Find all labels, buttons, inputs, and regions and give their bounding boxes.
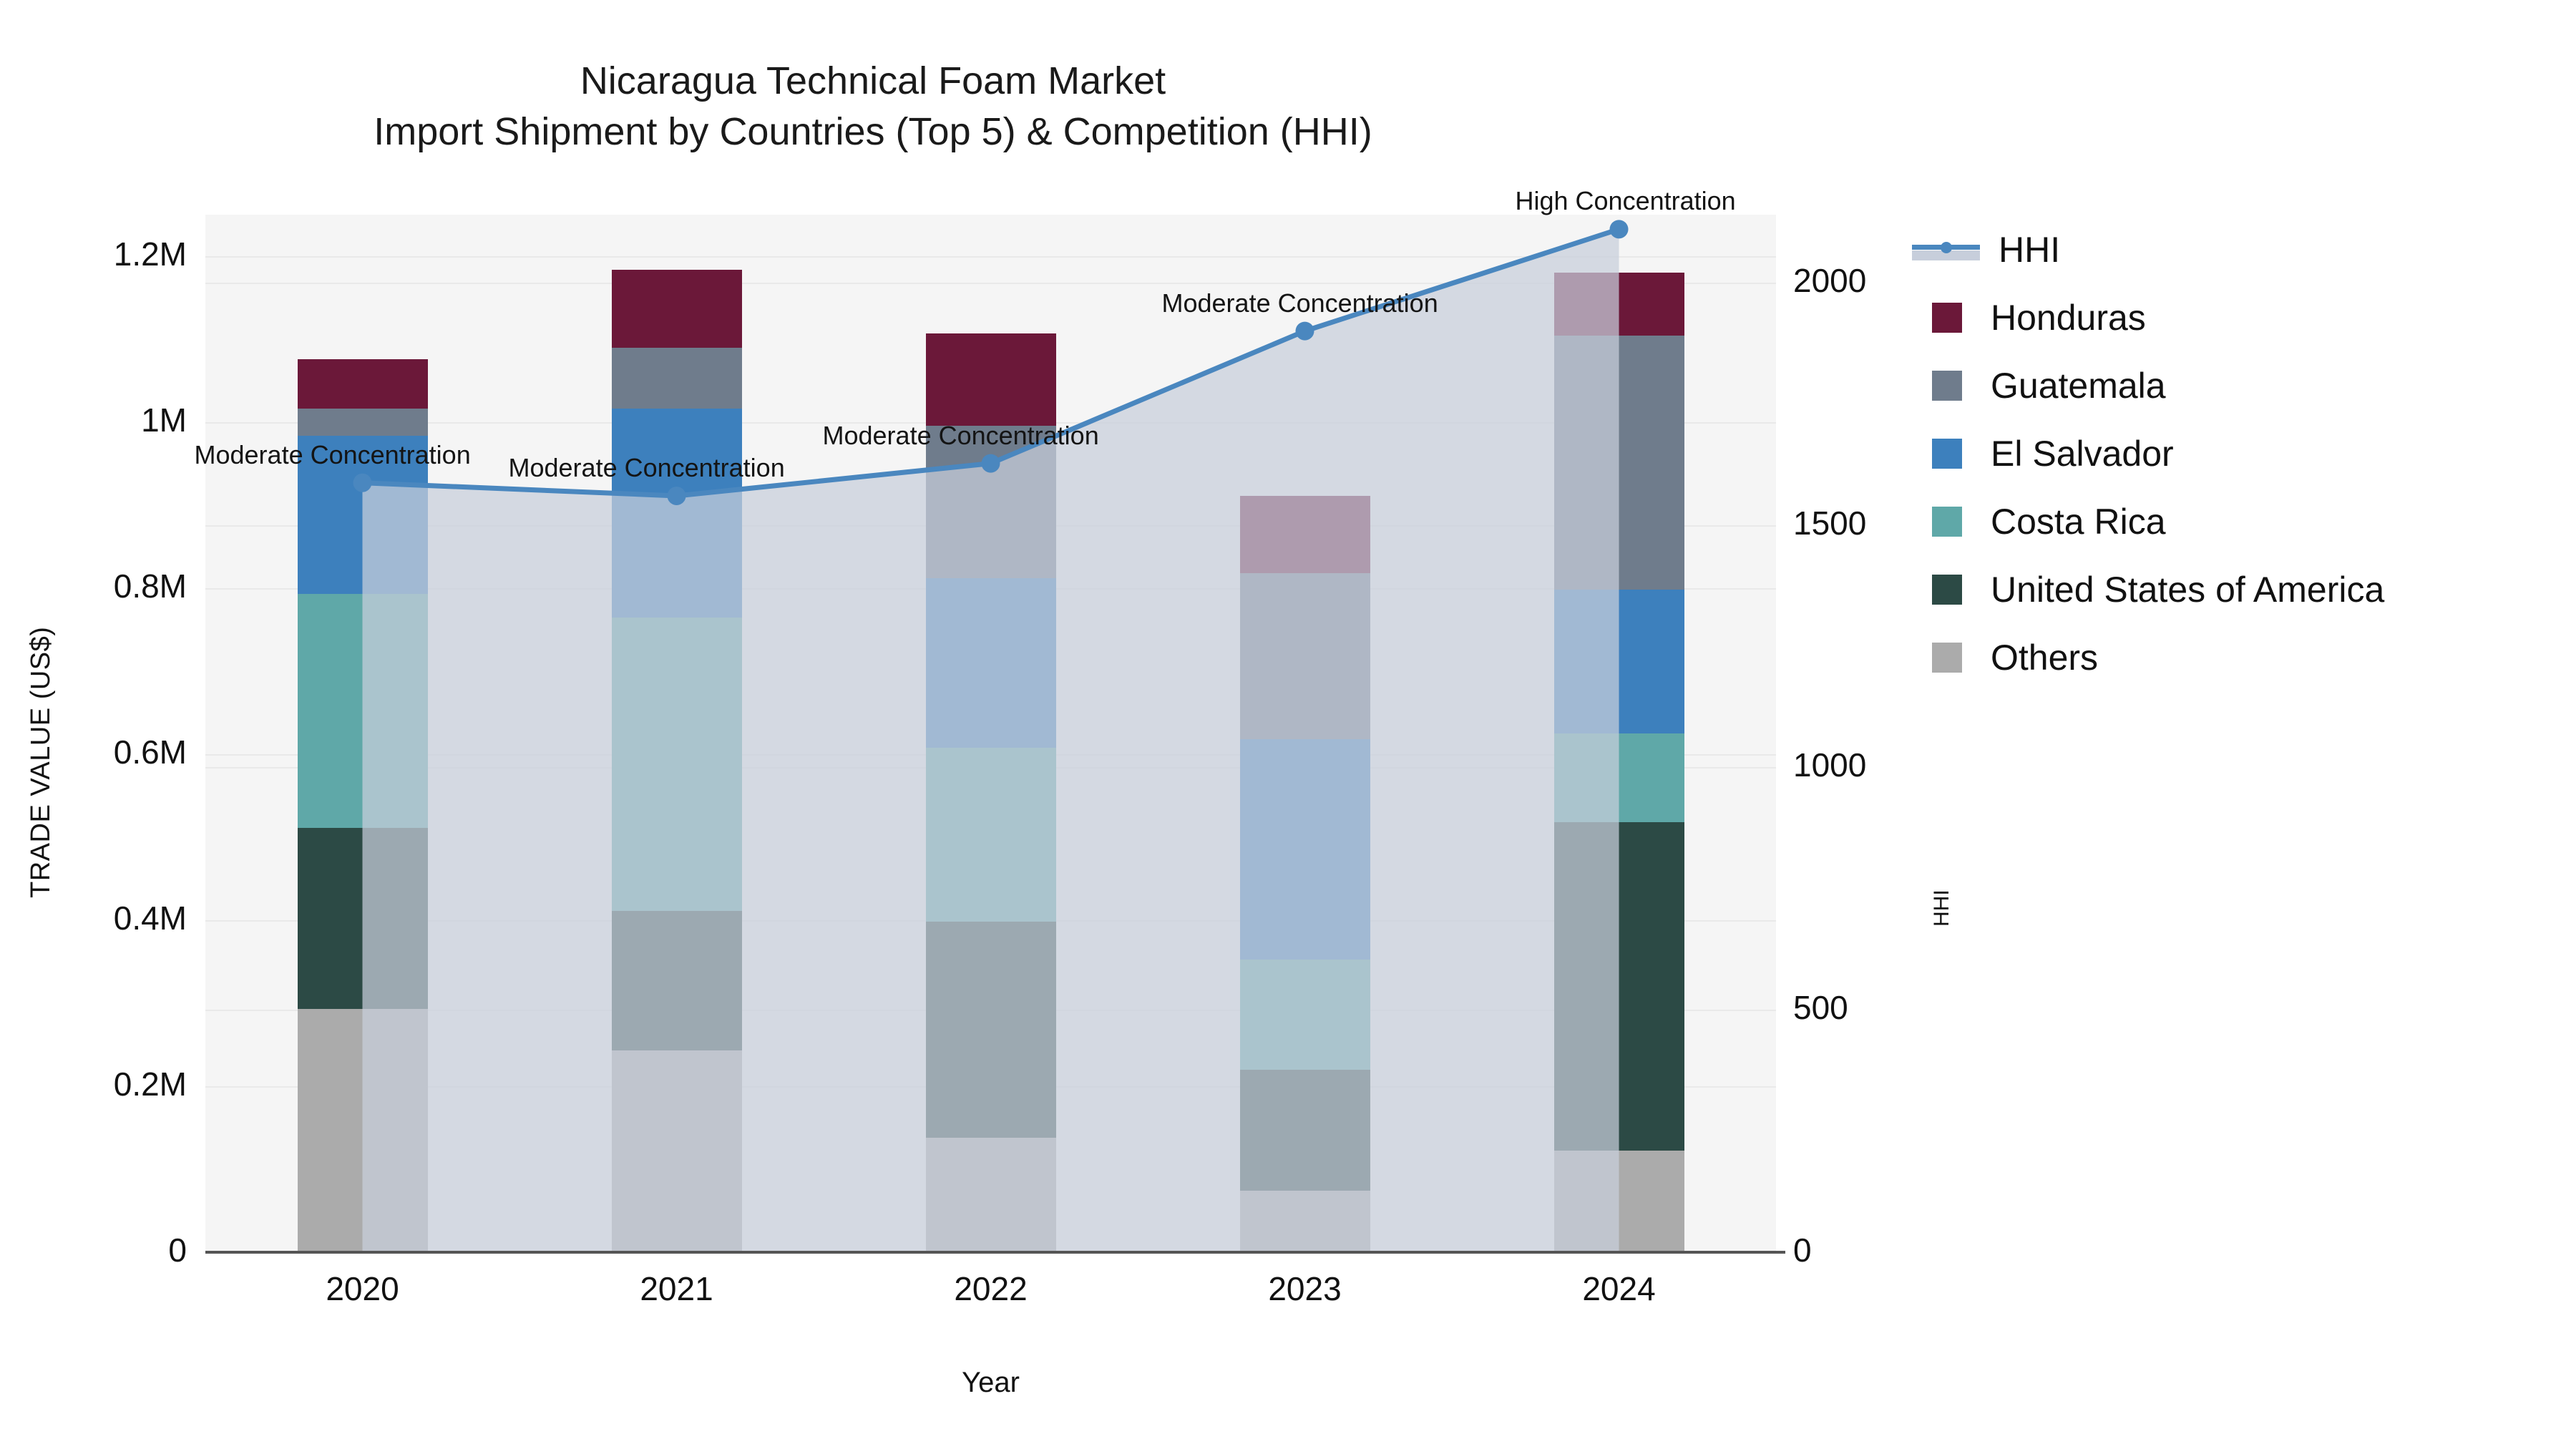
bar-segment[interactable] (612, 409, 742, 617)
bar-segment[interactable] (926, 748, 1056, 922)
bar-segment[interactable] (298, 359, 428, 409)
legend-item[interactable]: Costa Rica (1932, 504, 2562, 539)
bar-segment[interactable] (298, 594, 428, 828)
legend-color-swatch (1932, 507, 1962, 537)
bar-segment[interactable] (1554, 1151, 1684, 1252)
concentration-annotation: Moderate Concentration (509, 453, 785, 483)
gridline (205, 256, 1776, 258)
y2-axis-tick-label: 2000 (1793, 261, 1866, 300)
bar-segment[interactable] (1240, 496, 1370, 573)
legend-item-label: Honduras (1991, 297, 2146, 338)
concentration-annotation: Moderate Concentration (195, 440, 471, 470)
x-axis-line (205, 1251, 1785, 1254)
bar-segment[interactable] (926, 578, 1056, 748)
hhi-data-point[interactable] (1296, 322, 1314, 341)
legend-color-swatch (1932, 303, 1962, 333)
bar-segment[interactable] (926, 1138, 1056, 1252)
legend-item[interactable]: HHI (1932, 233, 2562, 267)
legend-item[interactable]: Others (1932, 640, 2562, 675)
legend-item-label: Others (1991, 637, 2098, 678)
gridline (205, 283, 1776, 284)
bar-segment[interactable] (1554, 822, 1684, 1151)
concentration-annotation: Moderate Concentration (823, 421, 1099, 451)
y-axis-tick-label: 1M (141, 401, 187, 439)
bar-segment[interactable] (298, 828, 428, 1009)
y-axis-tick-label: 0.6M (114, 733, 187, 771)
bar-segment[interactable] (926, 922, 1056, 1138)
legend-item[interactable]: Guatemala (1932, 369, 2562, 403)
bar-segment[interactable] (298, 409, 428, 435)
legend-item[interactable]: United States of America (1932, 572, 2562, 607)
x-axis-title: Year (776, 1367, 1206, 1399)
bar-segment[interactable] (926, 333, 1056, 426)
chart-canvas: Nicaragua Technical Foam Market Import S… (0, 0, 2576, 1449)
legend-color-swatch (1932, 575, 1962, 605)
bar-segment[interactable] (1240, 739, 1370, 959)
x-axis-tick-label: 2022 (884, 1269, 1098, 1308)
bar-segment[interactable] (1554, 733, 1684, 822)
concentration-annotation: Moderate Concentration (1162, 288, 1438, 318)
legend-item-label: Guatemala (1991, 365, 2166, 406)
bar-segment[interactable] (612, 618, 742, 912)
x-axis-tick-label: 2024 (1512, 1269, 1727, 1308)
bar-segment[interactable] (612, 911, 742, 1050)
y-axis-tick-label: 0.8M (114, 567, 187, 605)
legend-item-label: United States of America (1991, 569, 2384, 610)
chart-title: Nicaragua Technical Foam Market (0, 56, 2576, 107)
bar-segment[interactable] (1240, 573, 1370, 739)
concentration-annotation: High Concentration (1516, 186, 1736, 216)
bar-segment[interactable] (612, 270, 742, 348)
y2-axis-tick-label: 1500 (1793, 504, 1866, 542)
bar-segment[interactable] (612, 348, 742, 409)
y-axis-tick-label: 1.2M (114, 235, 187, 273)
bar-segment[interactable] (298, 1009, 428, 1252)
y2-axis-tick-label: 500 (1793, 988, 1848, 1027)
bar-segment[interactable] (612, 1050, 742, 1252)
hhi-data-point[interactable] (1610, 220, 1629, 238)
x-axis-tick-label: 2023 (1198, 1269, 1413, 1308)
bar-segment[interactable] (1240, 1191, 1370, 1252)
bar-segment[interactable] (1554, 590, 1684, 733)
chart-subtitle: Import Shipment by Countries (Top 5) & C… (0, 107, 2576, 157)
x-axis-tick-label: 2020 (255, 1269, 470, 1308)
legend-item[interactable]: Honduras (1932, 301, 2562, 335)
legend-color-swatch (1932, 643, 1962, 673)
legend-item-label: Costa Rica (1991, 501, 2166, 542)
legend-item[interactable]: El Salvador (1932, 436, 2562, 471)
y-axis-tick-label: 0 (168, 1231, 187, 1269)
legend-item-label: HHI (1999, 229, 2060, 270)
chart-legend: HHIHondurasGuatemalaEl SalvadorCosta Ric… (1932, 233, 2562, 708)
bar-segment[interactable] (1554, 336, 1684, 590)
y2-axis-title: HHI (1930, 889, 1954, 927)
hhi-line-swatch-icon (1912, 235, 1980, 265)
chart-title-block: Nicaragua Technical Foam Market Import S… (0, 56, 2576, 158)
bar-segment[interactable] (1240, 960, 1370, 1070)
y2-axis-tick-label: 1000 (1793, 746, 1866, 784)
y-axis-tick-label: 0.2M (114, 1065, 187, 1103)
x-axis-tick-label: 2021 (570, 1269, 784, 1308)
plot-area (205, 215, 1776, 1252)
legend-item-label: El Salvador (1991, 433, 2174, 474)
legend-color-swatch (1932, 371, 1962, 401)
y-axis-title: TRADE VALUE (US$) (26, 627, 57, 898)
bar-segment[interactable] (1240, 1070, 1370, 1191)
legend-color-swatch (1932, 439, 1962, 469)
y2-axis-tick-label: 0 (1793, 1231, 1812, 1269)
y-axis-tick-label: 0.4M (114, 899, 187, 937)
bar-segment[interactable] (1554, 273, 1684, 336)
